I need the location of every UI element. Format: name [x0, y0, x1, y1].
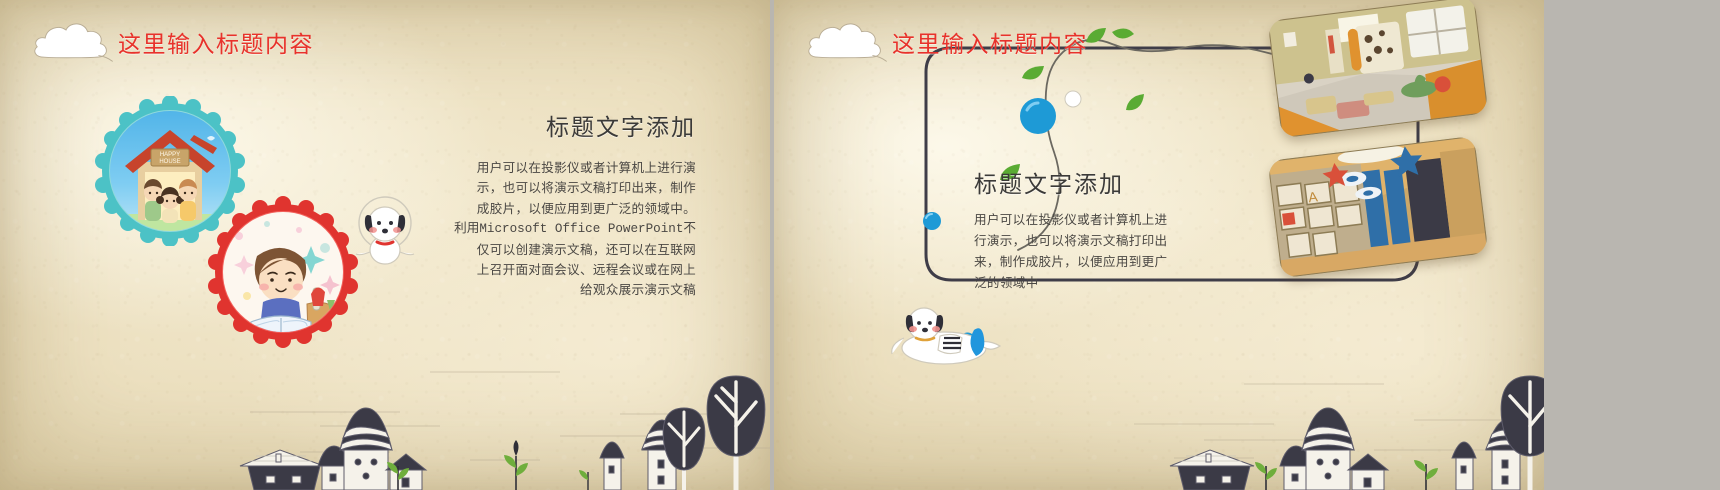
left-body-line: 上召开面对面会议、远程会议或在网上 — [432, 260, 696, 280]
left-body-text: 用户可以在投影仪或者计算机上进行演 示，也可以将演示文稿打印出来，制作 成胶片，… — [432, 158, 696, 301]
left-body-line: 用户可以在投影仪或者计算机上进行演 — [432, 158, 696, 178]
right-body-line: 用户可以在投影仪或者计算机上进 — [974, 210, 1264, 231]
right-body-line: 行演示，也可以将演示文稿打印出 — [974, 231, 1264, 252]
left-body-line: 成胶片，以便应用到更广泛的领域中。 — [432, 199, 696, 219]
right-body-line: 泛的领域中 — [974, 273, 1264, 294]
left-body-line: 示，也可以将演示文稿打印出来，制作 — [432, 178, 696, 198]
slide-left[interactable]: 这里输入标题内容 — [0, 0, 770, 490]
right-text-block: 标题文字添加 用户可以在投影仪或者计算机上进 行演示，也可以将演示文稿打印出 来… — [974, 165, 1264, 295]
slide-deck: 这里输入标题内容 — [0, 0, 1720, 490]
puppy-in-bubble-icon — [350, 190, 420, 273]
page-title: 这里输入标题内容 — [118, 25, 314, 59]
svg-text:HOUSE: HOUSE — [159, 159, 180, 165]
page-title: 这里输入标题内容 — [892, 25, 1088, 59]
svg-text:HAPPY: HAPPY — [160, 152, 180, 158]
village-silhouette — [774, 340, 1544, 490]
left-body-line: 给观众展示演示文稿 — [432, 280, 696, 300]
left-heading: 标题文字添加 — [432, 108, 696, 142]
slide-right[interactable]: 这里输入标题内容 — [774, 0, 1544, 490]
right-body-line: 来，制作成胶片，以便应用到更广 — [974, 252, 1264, 273]
left-body-line: 仅可以创建演示文稿，还可以在互联网 — [432, 240, 696, 260]
village-silhouette — [0, 340, 770, 490]
boy-reading-book-badge[interactable] — [207, 196, 359, 348]
left-body-line: 利用Microsoft Office PowerPoint不 — [432, 219, 696, 239]
cloud-icon — [30, 18, 118, 66]
right-heading: 标题文字添加 — [974, 165, 1264, 199]
classroom-photo[interactable] — [1268, 0, 1489, 138]
right-body-text: 用户可以在投影仪或者计算机上进 行演示，也可以将演示文稿打印出 来，制作成胶片，… — [974, 210, 1264, 295]
left-text-block: 标题文字添加 用户可以在投影仪或者计算机上进行演 示，也可以将演示文稿打印出来，… — [432, 108, 696, 301]
slide-left-header: 这里输入标题内容 — [30, 18, 314, 66]
cloud-icon — [804, 18, 892, 66]
hallway-photo[interactable]: A — [1268, 136, 1489, 278]
slide-right-header: 这里输入标题内容 — [804, 18, 1088, 66]
